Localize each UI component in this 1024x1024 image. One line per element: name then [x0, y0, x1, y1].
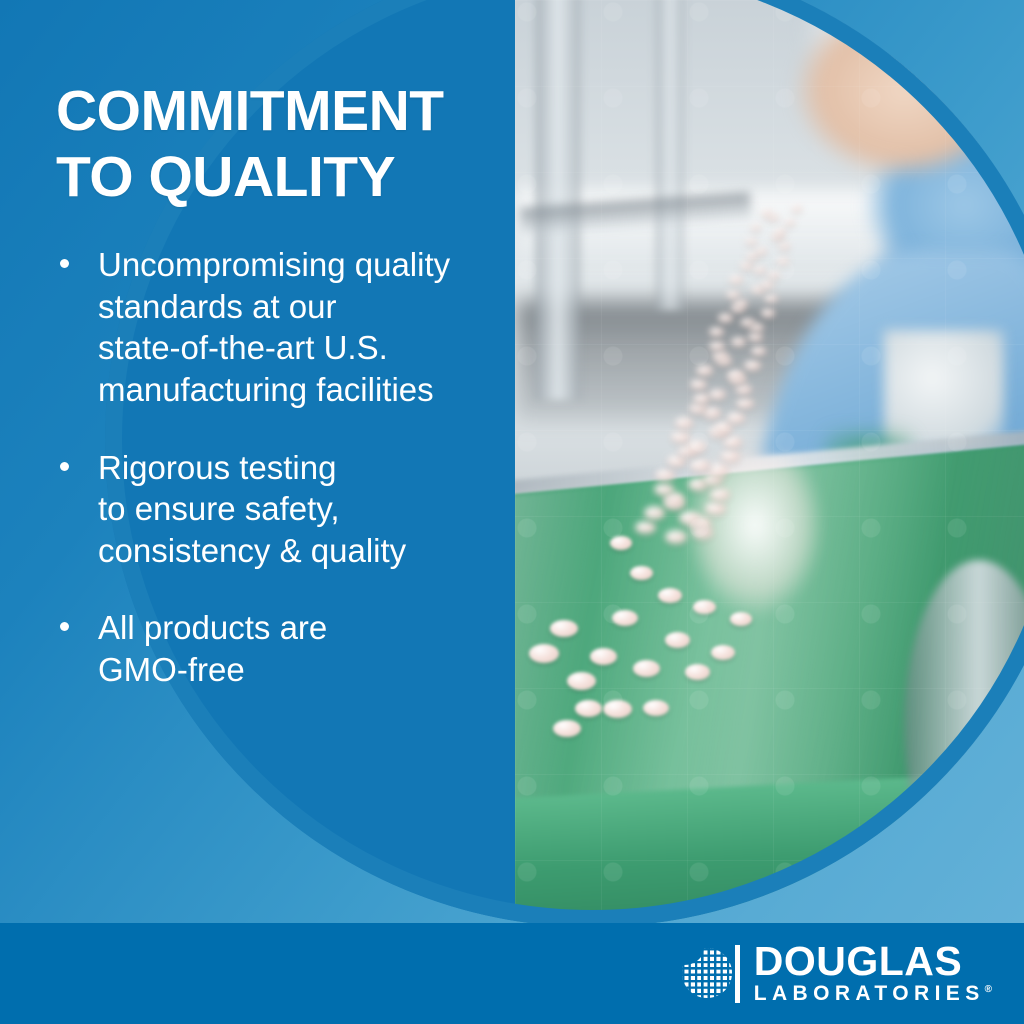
list-item: Rigorous testing to ensure safety, consi…: [56, 447, 526, 572]
bullet-dot-icon: [60, 259, 69, 268]
list-item: Uncompromising quality standards at our …: [56, 244, 526, 410]
brand-name: DOUGLAS: [754, 941, 992, 980]
headline-line-2: TO QUALITY: [56, 144, 526, 210]
bullet-text-1: Uncompromising quality standards at our …: [98, 244, 526, 410]
page-title: COMMITMENT TO QUALITY: [56, 78, 526, 210]
registered-trademark-icon: ®: [985, 984, 992, 995]
bullet-1-line-3: state-of-the-art U.S.: [98, 327, 526, 369]
brand-subname: LABORATORIES®: [754, 982, 992, 1005]
douglas-globe-grid-icon: [682, 945, 740, 1003]
brand-wordmark: DOUGLAS LABORATORIES®: [754, 941, 992, 1005]
bullet-2-line-1: Rigorous testing: [98, 447, 526, 489]
brand-subname-text: LABORATORIES: [754, 982, 985, 1005]
bullet-1-line-2: standards at our: [98, 286, 526, 328]
bullet-dot-icon: [60, 622, 69, 631]
list-item: All products are GMO-free: [56, 607, 526, 690]
footer-bar: DOUGLAS LABORATORIES®: [0, 923, 1024, 1024]
bullet-1-line-4: manufacturing facilities: [98, 369, 526, 411]
content-block: COMMITMENT TO QUALITY Uncompromising qua…: [56, 78, 526, 690]
bullet-1-line-1: Uncompromising quality: [98, 244, 526, 286]
bullet-3-line-1: All products are: [98, 607, 526, 649]
headline-line-1: COMMITMENT: [56, 78, 526, 144]
bullet-text-2: Rigorous testing to ensure safety, consi…: [98, 447, 526, 572]
bullet-dot-icon: [60, 462, 69, 471]
logo-vertical-bar: [735, 945, 740, 1003]
bullet-2-line-2: to ensure safety,: [98, 488, 526, 530]
bullet-text-3: All products are GMO-free: [98, 607, 526, 690]
brand-logo: DOUGLAS LABORATORIES®: [682, 941, 992, 1005]
promo-graphic: COMMITMENT TO QUALITY Uncompromising qua…: [0, 0, 1024, 1024]
bullet-2-line-3: consistency & quality: [98, 530, 526, 572]
bullet-3-line-2: GMO-free: [98, 649, 526, 691]
benefit-list: Uncompromising quality standards at our …: [56, 244, 526, 690]
